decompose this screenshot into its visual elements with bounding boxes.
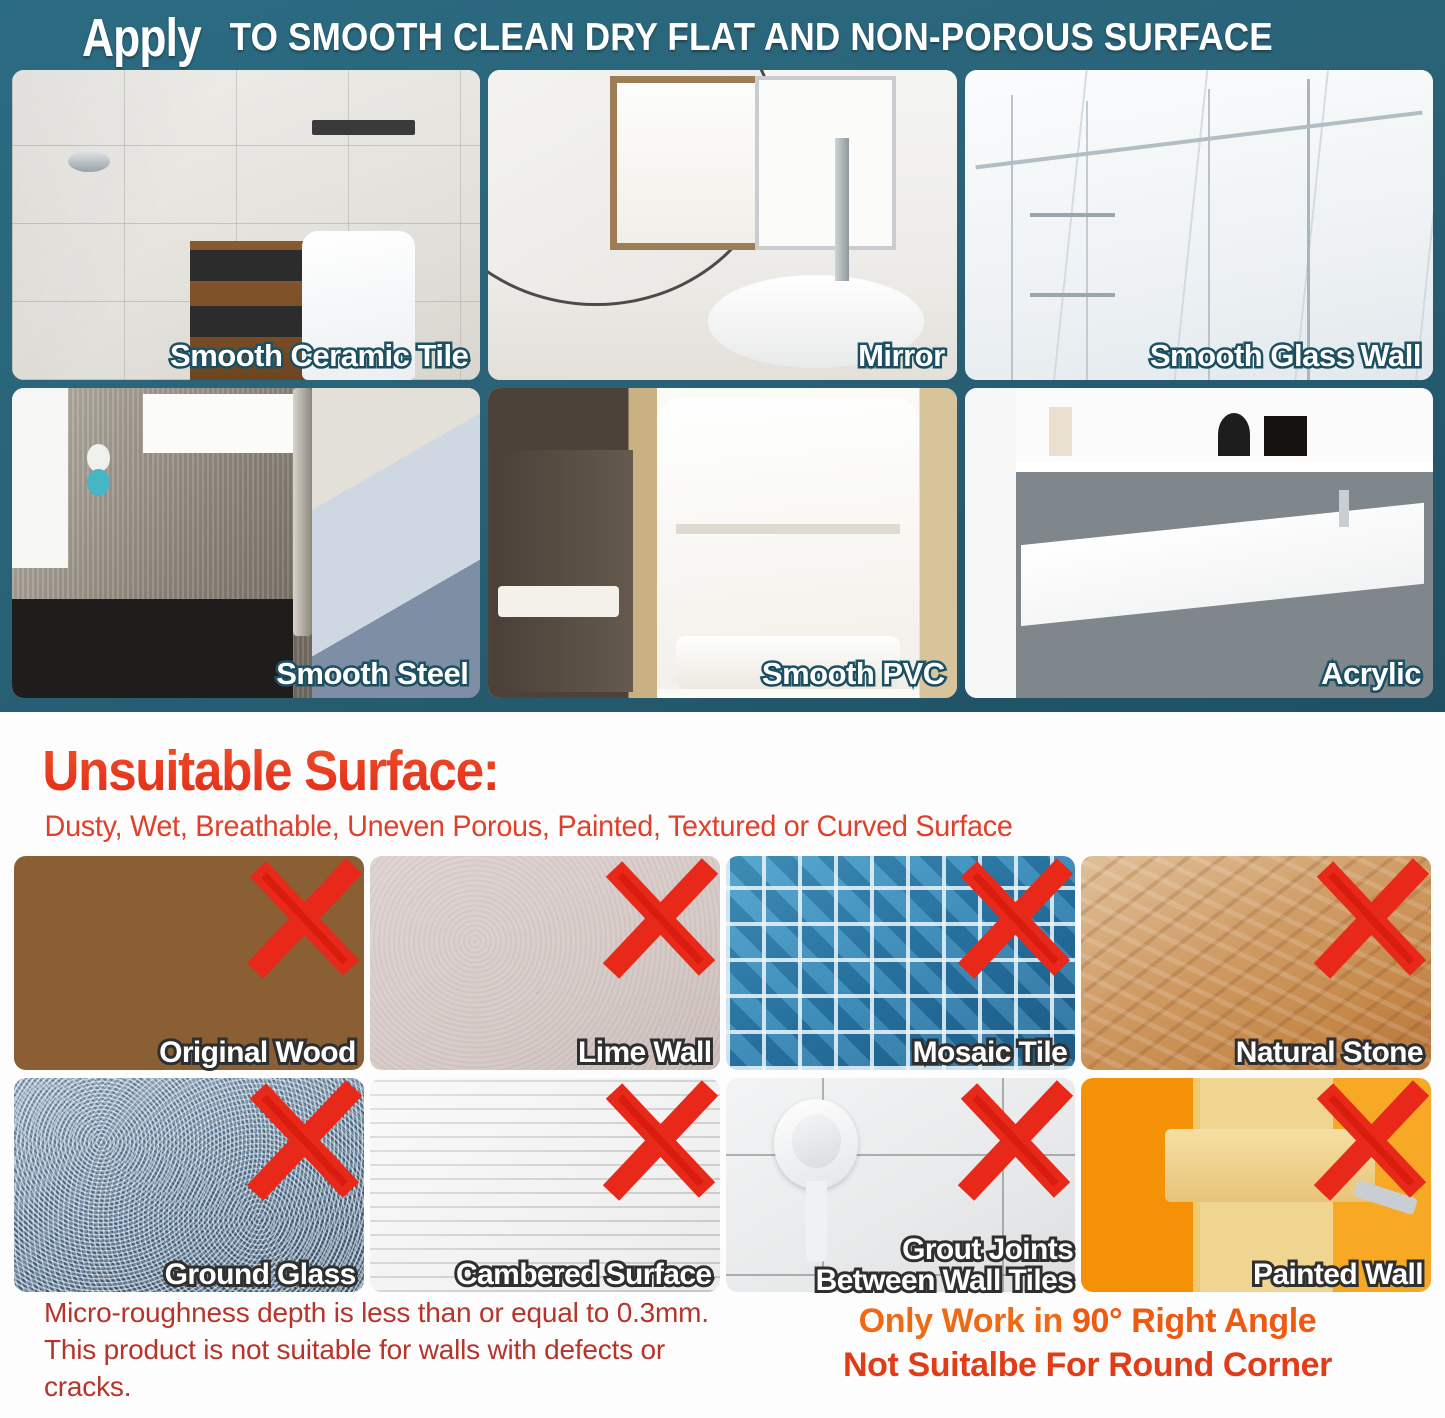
apply-tile-label: Acrylic (1321, 656, 1421, 692)
right-angle-warning: Only Work in 90° Right Angle Not Suitalb… (730, 1285, 1445, 1418)
acrylic-bathtub-photo (965, 388, 1433, 698)
unsuitable-subtitle: Dusty, Wet, Breathable, Uneven Porous, P… (10, 810, 1378, 844)
apply-tile: Smooth Ceramic Tile (12, 70, 480, 380)
stainless-steel-fridge-photo (12, 388, 480, 698)
apply-section: Apply TO SMOOTH CLEAN DRY FLAT AND NON-P… (0, 0, 1445, 712)
unsuitable-cell-label: Original Wood (159, 1037, 356, 1068)
glass-shower-wall-photo (965, 70, 1433, 380)
unsuitable-cell: Mosaic Tile (726, 856, 1076, 1070)
apply-tile: Acrylic (965, 388, 1433, 698)
unsuitable-cell-label: Natural Stone (1236, 1037, 1423, 1068)
unsuitable-cell-label: Ground Glass (165, 1259, 356, 1290)
unsuitable-cell: Original Wood (14, 856, 364, 1070)
apply-tile-label: Smooth PVC (762, 656, 945, 692)
apply-tile-label: Smooth Steel (276, 656, 468, 692)
warning-line-1a: Only Work in (859, 1302, 1072, 1340)
unsuitable-cell-label: Painted Wall (1253, 1259, 1423, 1290)
apply-tile: Smooth Steel (12, 388, 480, 698)
apply-tile-label: Smooth Glass Wall (1150, 338, 1421, 374)
unsuitable-cell-label: Grout Joints Between Wall Tiles (816, 1234, 1074, 1296)
pvc-bathtub-surround-photo (488, 388, 956, 698)
unsuitable-cell: Natural Stone (1081, 856, 1431, 1070)
apply-tile-label: Smooth Ceramic Tile (170, 338, 468, 374)
mirror-bathroom-photo (488, 70, 956, 380)
unsuitable-cell: Ground Glass (14, 1078, 364, 1292)
apply-heading-rest: TO SMOOTH CLEAN DRY FLAT AND NON-POROUS … (199, 16, 1273, 60)
footer: Micro-roughness depth is less than or eq… (0, 1285, 1445, 1418)
infographic-page: Apply TO SMOOTH CLEAN DRY FLAT AND NON-P… (0, 0, 1445, 1418)
ceramic-tile-bathroom-photo (12, 70, 480, 380)
apply-tile-label: Mirror (858, 338, 945, 374)
unsuitable-cell-label: Lime Wall (578, 1037, 712, 1068)
apply-heading: Apply TO SMOOTH CLEAN DRY FLAT AND NON-P… (10, 6, 1435, 70)
apply-tile: Smooth PVC (488, 388, 956, 698)
unsuitable-cell-grid: Original Wood Lime Wall Mosaic Tile (10, 856, 1435, 1292)
unsuitable-cell: Cambered Surface (370, 1078, 720, 1292)
unsuitable-cell: Lime Wall (370, 856, 720, 1070)
warning-line-1b: 90° Right Angle (1072, 1302, 1316, 1340)
warning-line-1: Only Work in 90° Right Angle (730, 1299, 1445, 1343)
apply-tile: Mirror (488, 70, 956, 380)
unsuitable-cell: Grout Joints Between Wall Tiles (726, 1078, 1076, 1292)
apply-tile-grid: Smooth Ceramic Tile Mirror (10, 70, 1435, 698)
micro-roughness-note: Micro-roughness depth is less than or eq… (0, 1285, 730, 1418)
unsuitable-cell-label: Cambered Surface (456, 1259, 712, 1290)
warning-line-2: Not Suitalbe For Round Corner (730, 1343, 1445, 1387)
unsuitable-cell-label: Mosaic Tile (913, 1037, 1068, 1068)
apply-heading-lead: Apply (82, 7, 201, 69)
unsuitable-cell: Painted Wall (1081, 1078, 1431, 1292)
unsuitable-title: Unsuitable Surface: (10, 738, 499, 804)
apply-tile: Smooth Glass Wall (965, 70, 1433, 380)
